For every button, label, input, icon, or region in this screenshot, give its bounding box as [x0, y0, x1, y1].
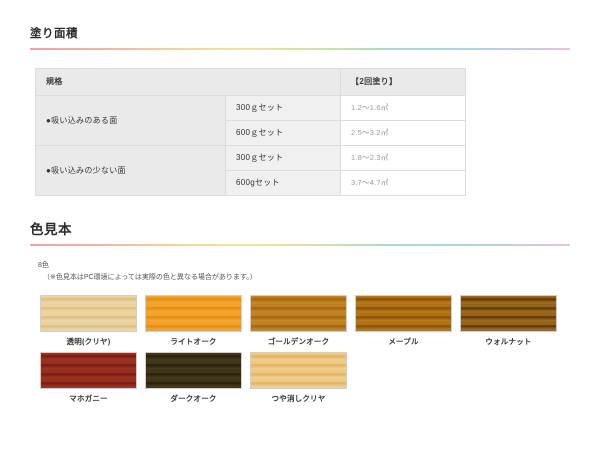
- color-swatch-label: つや消しクリヤ: [250, 394, 347, 405]
- wood-grain-texture: [461, 296, 556, 331]
- color-swatch-grid: 透明(クリヤ)ライトオークゴールデンオークメープルウォルナットマホガニーダークオ…: [0, 283, 580, 408]
- color-swatch-item[interactable]: メープル: [355, 295, 452, 348]
- color-swatch-chip[interactable]: [250, 352, 347, 389]
- wood-grain-texture: [251, 296, 346, 331]
- color-sample-section: 色見本: [0, 222, 600, 246]
- row-label-absorbent-surface: ●吸い込みのある面: [36, 95, 226, 145]
- area-value-cell: 1.2〜1.6㎡: [341, 95, 466, 120]
- color-swatch-item[interactable]: 透明(クリヤ): [40, 295, 137, 348]
- wood-grain-texture: [146, 296, 241, 331]
- area-value-cell: 1.8〜2.3㎡: [341, 145, 466, 170]
- page-root: 塗り面積 規格 【2回塗り】 ●吸い込みのある面 300ｇセット 1.2〜1.6…: [0, 0, 600, 450]
- color-swatch-item[interactable]: ゴールデンオーク: [250, 295, 347, 348]
- coating-area-table-wrap: 規格 【2回塗り】 ●吸い込みのある面 300ｇセット 1.2〜1.6㎡ 600…: [0, 68, 600, 196]
- color-disclaimer-text: （※色見本はPC環境によっては実際の色と異なる場合があります。）: [38, 272, 600, 284]
- color-swatch-label: 透明(クリヤ): [40, 337, 137, 348]
- area-value-cell: 2.5〜3.2㎡: [341, 120, 466, 145]
- table-row: ●吸い込みの少ない面 300ｇセット 1.8〜2.3㎡: [36, 145, 466, 170]
- row-label-low-absorbent-surface: ●吸い込みの少ない面: [36, 145, 226, 195]
- page-title: 塗り面積: [30, 28, 570, 48]
- coating-area-section: 塗り面積: [0, 0, 600, 50]
- color-swatch-chip[interactable]: [40, 352, 137, 389]
- wood-grain-texture: [356, 296, 451, 331]
- section-divider-area: [30, 48, 570, 50]
- color-swatch-label: ライトオーク: [145, 337, 242, 348]
- color-swatch-label: メープル: [355, 337, 452, 348]
- color-count-label: 8色: [38, 260, 600, 272]
- color-swatch-item[interactable]: ライトオーク: [145, 295, 242, 348]
- wood-grain-texture: [41, 296, 136, 331]
- color-swatch-chip[interactable]: [460, 295, 557, 332]
- column-header-coats: 【2回塗り】: [341, 68, 466, 95]
- color-sample-title: 色見本: [30, 222, 570, 244]
- coating-area-table: 規格 【2回塗り】 ●吸い込みのある面 300ｇセット 1.2〜1.6㎡ 600…: [35, 68, 466, 196]
- column-header-spec: 規格: [36, 68, 341, 95]
- color-swatch-item[interactable]: マホガニー: [40, 352, 137, 405]
- area-value-cell: 3.7〜4.7㎡: [341, 170, 466, 195]
- color-swatch-label: ダークオーク: [145, 394, 242, 405]
- color-swatch-item[interactable]: つや消しクリヤ: [250, 352, 347, 405]
- color-swatch-chip[interactable]: [355, 295, 452, 332]
- color-swatch-chip[interactable]: [145, 352, 242, 389]
- color-swatch-chip[interactable]: [40, 295, 137, 332]
- wood-grain-texture: [41, 353, 136, 388]
- set-name-cell: 300ｇセット: [226, 145, 341, 170]
- color-swatch-chip[interactable]: [250, 295, 347, 332]
- color-swatch-label: ウォルナット: [460, 337, 557, 348]
- color-swatch-chip[interactable]: [145, 295, 242, 332]
- color-swatch-item[interactable]: ウォルナット: [460, 295, 557, 348]
- table-header-row: 規格 【2回塗り】: [36, 68, 466, 95]
- set-name-cell: 300ｇセット: [226, 95, 341, 120]
- wood-grain-texture: [251, 353, 346, 388]
- table-row: ●吸い込みのある面 300ｇセット 1.2〜1.6㎡: [36, 95, 466, 120]
- color-swatch-label: マホガニー: [40, 394, 137, 405]
- wood-grain-texture: [146, 353, 241, 388]
- set-name-cell: 600gセット: [226, 170, 341, 195]
- color-swatch-item[interactable]: ダークオーク: [145, 352, 242, 405]
- color-sample-note: 8色 （※色見本はPC環境によっては実際の色と異なる場合があります。）: [0, 246, 600, 283]
- set-name-cell: 600ｇセット: [226, 120, 341, 145]
- color-swatch-label: ゴールデンオーク: [250, 337, 347, 348]
